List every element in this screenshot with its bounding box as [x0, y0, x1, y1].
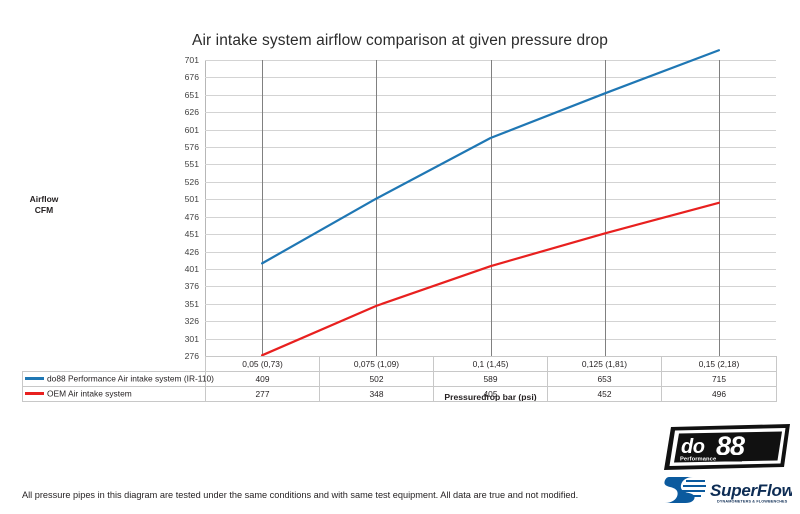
legend-entry[interactable]: OEM Air intake system [23, 387, 206, 402]
category-header-cell: 0,15 (2,18) [662, 357, 777, 372]
y-tick-label: 451 [185, 229, 199, 239]
data-cell: 452 [548, 387, 662, 402]
y-tick-label: 401 [185, 264, 199, 274]
y-tick-label: 301 [185, 334, 199, 344]
data-cell: 715 [662, 372, 777, 387]
plot-area: 7016766516266015765515265014764514264013… [205, 60, 776, 356]
data-table: 0,05 (0,73)0,075 (1,09)0,1 (1,45)0,125 (… [22, 356, 777, 402]
y-tick-label: 551 [185, 159, 199, 169]
superflow-logo-tagline: DYNAMOMETERS & FLOWBENCHES [717, 500, 788, 504]
chart-title: Air intake system airflow comparison at … [0, 32, 800, 50]
category-header-cell: 0,05 (0,73) [206, 357, 320, 372]
legend-swatch-icon [25, 377, 44, 380]
svg-text:do: do [681, 436, 705, 458]
y-tick-label: 501 [185, 194, 199, 204]
data-cell: 589 [434, 372, 548, 387]
do88-logo-tagline: Performance [680, 456, 716, 462]
y-tick-label: 426 [185, 247, 199, 257]
data-cell: 277 [206, 387, 320, 402]
legend-entry[interactable]: do88 Performance Air intake system (IR-1… [23, 372, 206, 387]
legend-swatch-icon [25, 392, 44, 395]
y-tick-label: 476 [185, 212, 199, 222]
data-cell: 496 [662, 387, 777, 402]
legend-label: OEM Air intake system [47, 389, 132, 399]
y-tick-label: 576 [185, 142, 199, 152]
category-header-cell: 0,125 (1,81) [548, 357, 662, 372]
data-cell: 409 [206, 372, 320, 387]
table-corner-cell [23, 357, 206, 372]
y-axis-title-line1: Airflow [8, 194, 80, 205]
data-cell: 405 [434, 387, 548, 402]
data-cell: 653 [548, 372, 662, 387]
category-header-cell: 0,075 (1,09) [320, 357, 434, 372]
data-cell: 502 [320, 372, 434, 387]
superflow-logo: SuperFlow DYNAMOMETERS & FLOWBENCHES [662, 474, 792, 508]
table-row-categories: 0,05 (0,73)0,075 (1,09)0,1 (1,45)0,125 (… [23, 357, 777, 372]
y-tick-label: 326 [185, 316, 199, 326]
y-tick-label: 701 [185, 55, 199, 65]
y-tick-label: 526 [185, 177, 199, 187]
y-axis-title-line2: CFM [8, 205, 80, 216]
y-axis-title: Airflow CFM [8, 194, 80, 216]
series-lines [205, 60, 776, 356]
y-tick-label: 376 [185, 281, 199, 291]
superflow-logo-icon: SuperFlow DYNAMOMETERS & FLOWBENCHES [662, 474, 792, 508]
do88-logo-icon: do 88 Performance [664, 424, 790, 470]
do88-logo: do 88 Performance [664, 424, 790, 470]
data-cell: 348 [320, 387, 434, 402]
footer-disclaimer: All pressure pipes in this diagram are t… [22, 490, 578, 500]
y-tick-label: 351 [185, 299, 199, 309]
table-row: do88 Performance Air intake system (IR-1… [23, 372, 777, 387]
y-tick-label: 601 [185, 125, 199, 135]
y-tick-label: 626 [185, 107, 199, 117]
plot-grid: 7016766516266015765515265014764514264013… [205, 60, 776, 356]
superflow-logo-name: SuperFlow [710, 481, 792, 500]
table-row: OEM Air intake system277348405452496 [23, 387, 777, 402]
y-tick-label: 651 [185, 90, 199, 100]
category-header-cell: 0,1 (1,45) [434, 357, 548, 372]
y-tick-label: 676 [185, 72, 199, 82]
legend-label: do88 Performance Air intake system (IR-1… [47, 374, 214, 384]
series-line-0 [262, 50, 719, 263]
